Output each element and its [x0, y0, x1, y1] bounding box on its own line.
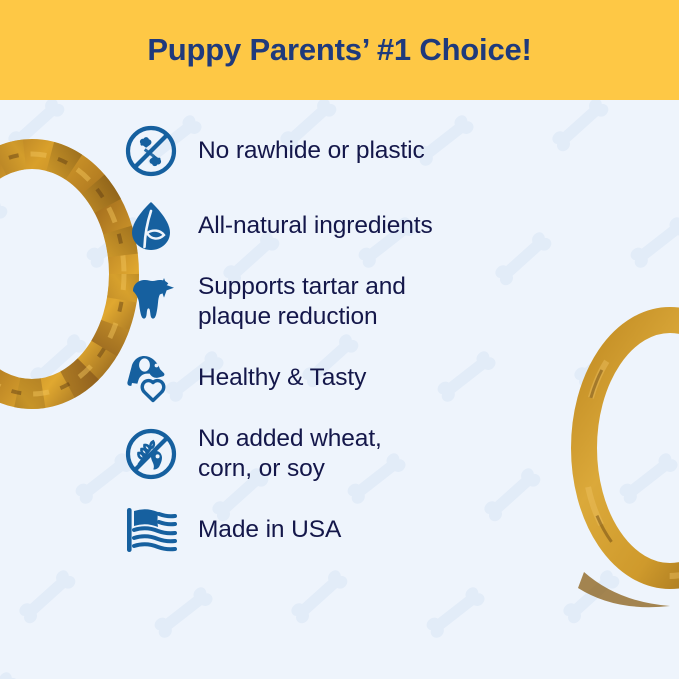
feature-label: No added wheat, corn, or soy — [198, 424, 382, 484]
feature-label-line1: Made in USA — [198, 516, 341, 543]
feature-row: Healthy & Tasty — [120, 349, 590, 407]
feature-row: Supports tartar and plaque reduction — [120, 272, 590, 332]
feature-label: No rawhide or plastic — [198, 136, 425, 166]
feature-label: Supports tartar and plaque reduction — [198, 272, 406, 332]
bone-pattern-tile — [417, 578, 499, 653]
feature-label-line1: No rawhide or plastic — [198, 137, 425, 164]
bone-pattern-tile — [621, 208, 679, 283]
feature-row: No rawhide or plastic — [120, 122, 590, 180]
feature-list: No rawhide or plastic All-natural ingred… — [120, 122, 590, 559]
feature-row: Made in USA — [120, 501, 590, 559]
no-rawhide-icon — [120, 122, 182, 180]
no-wheat-icon — [120, 425, 182, 483]
bone-pattern-tile — [0, 426, 11, 503]
feature-label: Healthy & Tasty — [198, 363, 366, 393]
bone-pattern-tile — [0, 662, 33, 679]
dog-heart-icon — [120, 349, 182, 407]
header-banner: Puppy Parents’ #1 Choice! — [0, 0, 679, 100]
bone-pattern-tile — [10, 560, 91, 637]
infographic-page: Puppy Parents’ #1 Choice! No rawhide or … — [0, 0, 679, 679]
tooth-sparkle-icon — [120, 273, 182, 331]
feature-row: All-natural ingredients — [120, 197, 590, 255]
feature-label-line1: Supports tartar and — [198, 273, 406, 300]
feature-row: No added wheat, corn, or soy — [120, 424, 590, 484]
feature-label-line1: All-natural ingredients — [198, 212, 433, 239]
feature-label: All-natural ingredients — [198, 211, 433, 241]
bone-pattern-tile — [145, 578, 227, 653]
page-title: Puppy Parents’ #1 Choice! — [147, 32, 531, 68]
feature-label: Made in USA — [198, 515, 341, 545]
leaf-icon — [120, 197, 182, 255]
feature-label-line2: corn, or soy — [198, 454, 382, 484]
feature-label-line1: No added wheat, — [198, 425, 382, 452]
feature-label-line2: plaque reduction — [198, 302, 406, 332]
feature-label-line1: Healthy & Tasty — [198, 364, 366, 391]
bone-pattern-tile — [282, 560, 363, 637]
usa-flag-icon — [120, 501, 182, 559]
